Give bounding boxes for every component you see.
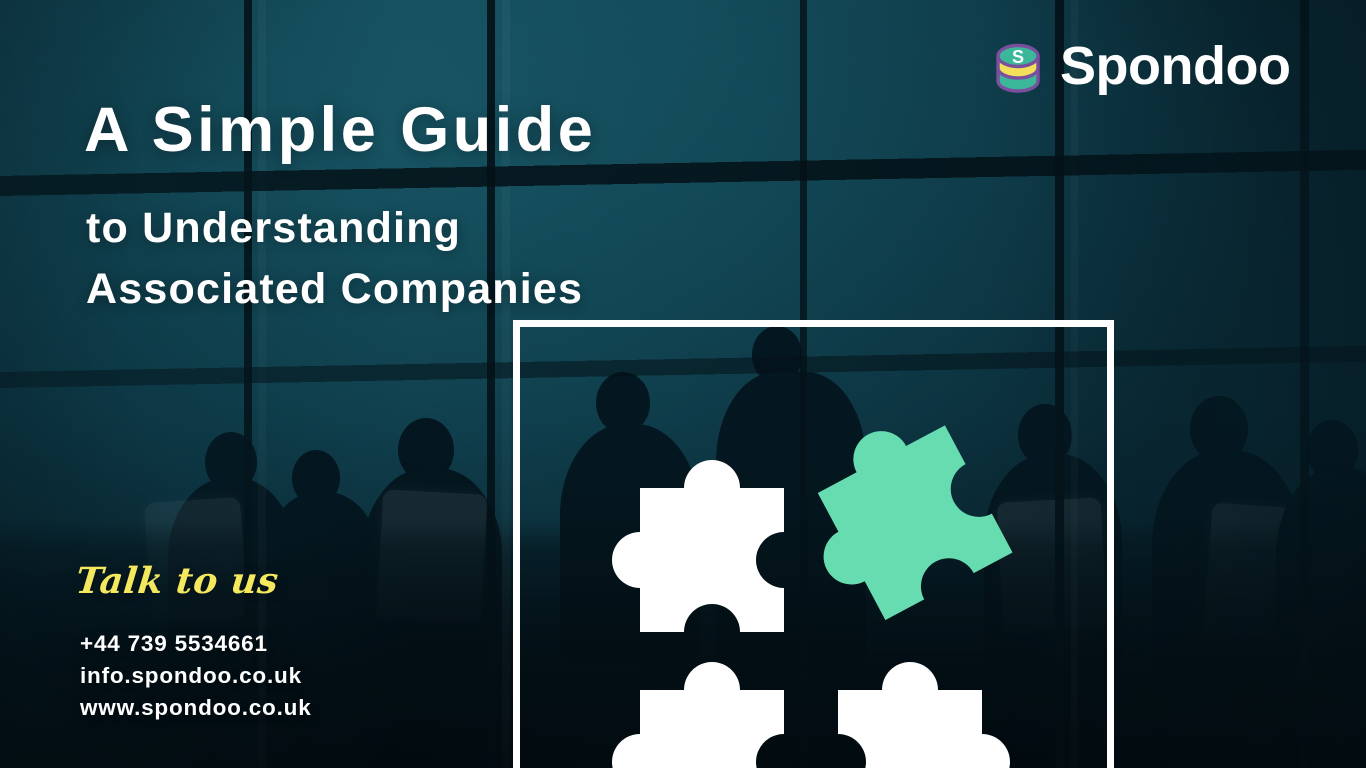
puzzle-piece-white-bottom-right	[790, 620, 1030, 768]
marketing-banner: S Spondoo A Simple Guide to Understandin…	[0, 0, 1366, 768]
brand-wordmark: Spondoo	[1060, 39, 1290, 93]
contact-phone[interactable]: +44 739 5534661	[80, 628, 312, 660]
contact-website[interactable]: www.spondoo.co.uk	[80, 692, 312, 724]
subtitle-line-2: Associated Companies	[86, 259, 583, 320]
svg-text:S: S	[1012, 47, 1024, 67]
brand-logo[interactable]: S Spondoo	[992, 38, 1290, 94]
cta-talk-to-us: Talk to us	[74, 560, 281, 602]
spondoo-stacked-discs-logo-icon: S	[992, 38, 1044, 94]
puzzle-piece-green-top-right	[798, 388, 1026, 620]
page-subtitle: to Understanding Associated Companies	[86, 198, 583, 320]
contact-details: +44 739 5534661 info.spondoo.co.uk www.s…	[80, 628, 312, 724]
contact-email[interactable]: info.spondoo.co.uk	[80, 660, 312, 692]
puzzle-piece-white-bottom-left	[592, 620, 804, 768]
puzzle-piece-white-top-left	[592, 418, 804, 650]
page-title: A Simple Guide	[84, 96, 596, 164]
subtitle-line-1: to Understanding	[86, 198, 583, 259]
